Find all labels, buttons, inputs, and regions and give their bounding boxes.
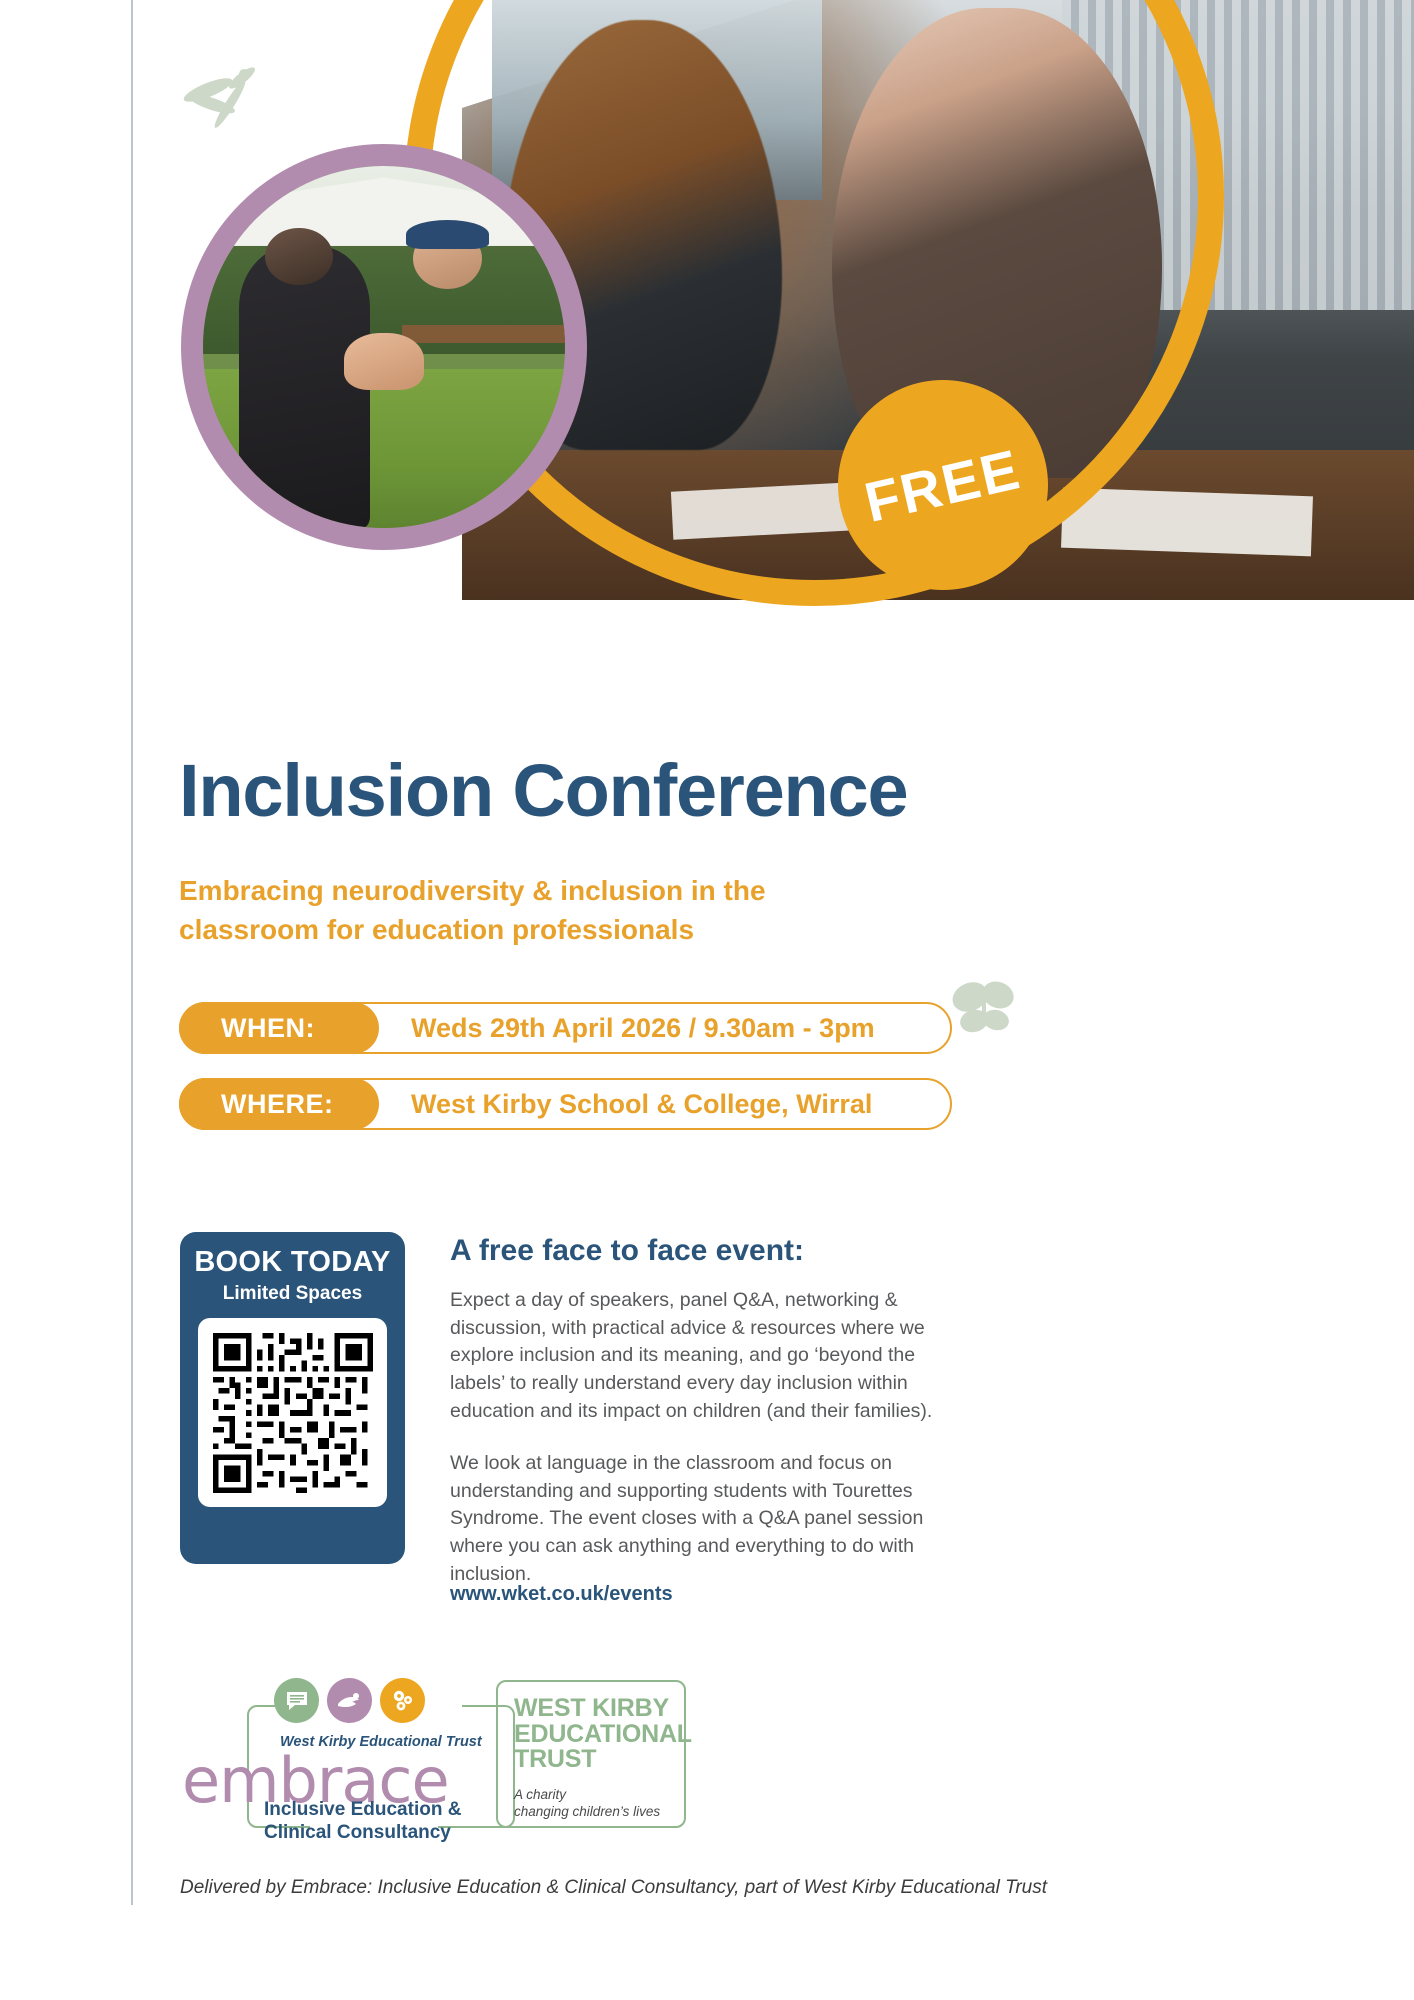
- circle-photo-hands: [344, 333, 424, 391]
- detail-row-when: WHEN: Weds 29th April 2026 / 9.30am - 3p…: [179, 1002, 952, 1054]
- body-heading: A free face to face event:: [450, 1234, 804, 1268]
- wket-logo: WEST KIRBY EDUCATIONAL TRUST A charity c…: [496, 1680, 686, 1828]
- wket-line-2: EDUCATIONAL: [514, 1722, 684, 1748]
- body-paragraph-2: We look at language in the classroom and…: [450, 1450, 952, 1588]
- hero-paper-right: [1061, 488, 1313, 557]
- qr-code-icon[interactable]: [213, 1333, 373, 1493]
- butterfly-icon: [946, 975, 1020, 1041]
- free-badge-label: FREE: [859, 436, 1027, 535]
- wket-line-1: WEST KIRBY: [514, 1696, 684, 1722]
- page-subtitle: Embracing neurodiversity & inclusion in …: [179, 872, 799, 949]
- events-url-link[interactable]: www.wket.co.uk/events: [450, 1583, 673, 1606]
- footer-note: Delivered by Embrace: Inclusive Educatio…: [180, 1877, 1047, 1899]
- detail-row-where: WHERE: West Kirby School & College, Wirr…: [179, 1078, 952, 1130]
- wket-strapline: A charity changing children’s lives: [514, 1786, 684, 1821]
- page-title: Inclusion Conference: [179, 754, 907, 828]
- wket-strapline-line2: changing children’s lives: [514, 1803, 684, 1820]
- circle-photo-head-left: [265, 228, 334, 286]
- speech-bubble-icon: [274, 1678, 319, 1723]
- left-vertical-rule: [131, 0, 133, 1905]
- cogs-icon: [380, 1678, 425, 1723]
- book-today-title: BOOK TODAY: [180, 1246, 405, 1279]
- qr-code-wrapper[interactable]: [198, 1318, 387, 1507]
- detail-label-where: WHERE:: [179, 1078, 379, 1130]
- detail-label-when: WHEN:: [179, 1002, 379, 1054]
- wket-strapline-line1: A charity: [514, 1786, 684, 1803]
- book-today-subtitle: Limited Spaces: [180, 1283, 405, 1305]
- circle-photo-cap: [406, 220, 489, 249]
- dragonfly-icon: [168, 52, 278, 162]
- embrace-tagline-line1: Inclusive Education &: [264, 1798, 461, 1821]
- wket-line-3: TRUST: [514, 1747, 684, 1773]
- circle-photo-person-right: [384, 253, 522, 528]
- circle-inset-photo: [181, 144, 587, 550]
- circle-photo-scene: [203, 166, 565, 528]
- detail-label-text: WHEN:: [221, 1013, 315, 1044]
- embrace-icon-row: [274, 1678, 425, 1723]
- detail-label-text: WHERE:: [221, 1089, 334, 1120]
- embrace-tagline-line2: Clinical Consultancy: [264, 1821, 461, 1844]
- detail-value-where: West Kirby School & College, Wirral: [411, 1078, 872, 1130]
- circle-photo-person-left: [239, 246, 369, 528]
- book-today-card[interactable]: BOOK TODAY Limited Spaces: [180, 1232, 405, 1564]
- poster-root: FREE Inclusion Conference Embracing neur…: [0, 0, 1414, 2000]
- helping-hand-icon: [327, 1678, 372, 1723]
- free-badge: FREE: [838, 380, 1048, 590]
- body-paragraph-1: Expect a day of speakers, panel Q&A, net…: [450, 1287, 950, 1425]
- detail-value-when: Weds 29th April 2026 / 9.30am - 3pm: [411, 1002, 875, 1054]
- embrace-tagline: Inclusive Education & Clinical Consultan…: [264, 1798, 461, 1844]
